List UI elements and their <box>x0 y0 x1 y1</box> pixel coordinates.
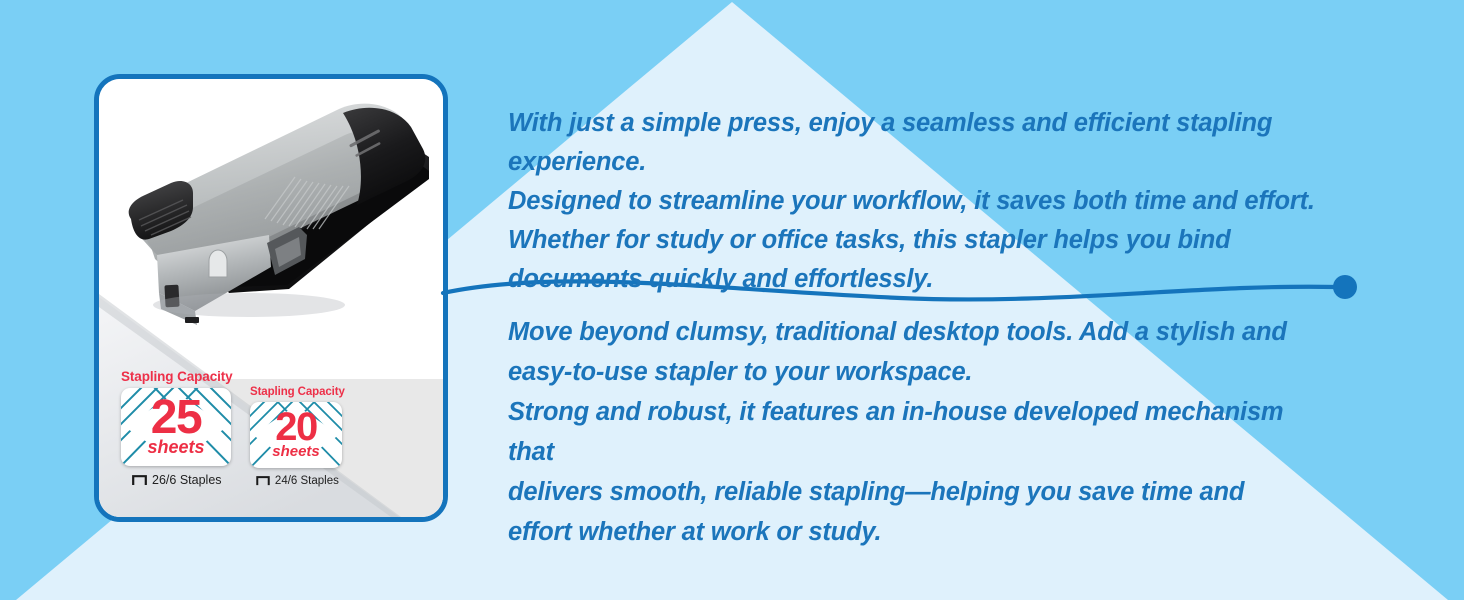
capacity-badge: Stapling Capacity <box>121 369 233 487</box>
badge-footer: 24/6 Staples <box>250 475 345 487</box>
badge-footer: 26/6 Staples <box>121 473 233 487</box>
capacity-badge: Stapling Capacity <box>250 386 345 487</box>
copy-line: With just a simple press, enjoy a seamle… <box>508 104 1388 182</box>
staple-spec-label: 26/6 Staples <box>152 473 222 487</box>
badge-number: 25 <box>151 398 201 437</box>
copy-line: easy-to-use stapler to your workspace. <box>508 352 1328 392</box>
badge-box: 20 sheets <box>250 402 342 468</box>
staple-icon <box>256 476 270 486</box>
badge-content: 20 sheets <box>250 402 342 468</box>
copy-block-bottom: Move beyond clumsy, traditional desktop … <box>508 312 1328 552</box>
badge-number: 20 <box>275 411 317 444</box>
badge-unit: sheets <box>272 444 320 459</box>
staple-spec-label: 24/6 Staples <box>275 475 339 487</box>
copy-line: delivers smooth, reliable stapling—helpi… <box>508 472 1328 512</box>
badge-caption: Stapling Capacity <box>250 386 345 398</box>
product-card: Stapling Capacity <box>94 74 448 522</box>
copy-block-top: With just a simple press, enjoy a seamle… <box>508 104 1388 299</box>
badge-caption: Stapling Capacity <box>121 369 233 384</box>
badge-unit: sheets <box>147 438 204 456</box>
copy-line: effort whether at work or study. <box>508 512 1328 552</box>
badge-row: Stapling Capacity <box>99 367 443 517</box>
copy-line: documents quickly and effortlessly. <box>508 260 1388 299</box>
copy-line: Move beyond clumsy, traditional desktop … <box>508 312 1328 352</box>
badge-content: 25 sheets <box>121 388 231 466</box>
badge-box: 25 sheets <box>121 388 231 466</box>
copy-line: Whether for study or office tasks, this … <box>508 221 1388 260</box>
staple-icon <box>132 475 147 486</box>
copy-line: Strong and robust, it features an in-hou… <box>508 392 1328 472</box>
banner-root: Stapling Capacity <box>0 0 1464 600</box>
copy-line: Designed to streamline your workflow, it… <box>508 182 1388 221</box>
